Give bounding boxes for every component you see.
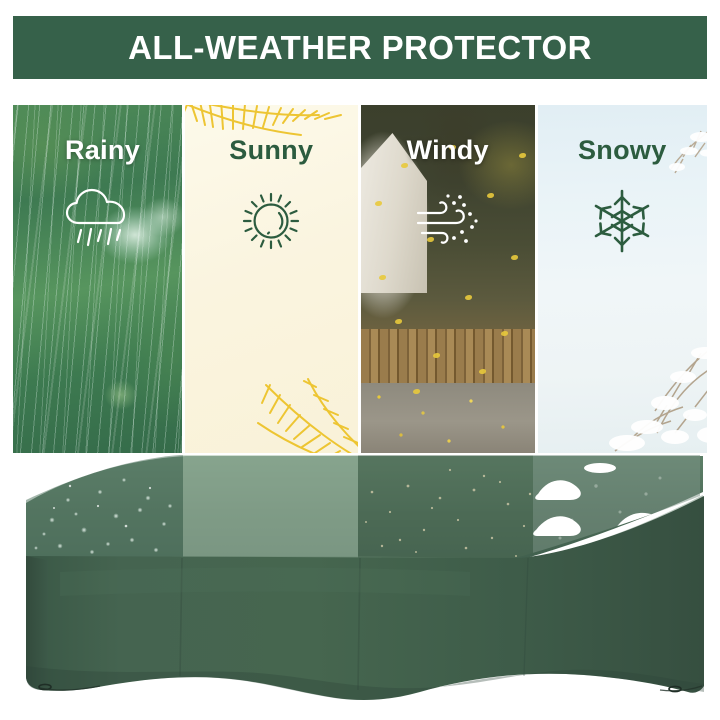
patio-furniture-cover xyxy=(0,0,720,720)
product-marketing-image: ALL-WEATHER PROTECTOR Rainy xyxy=(0,0,720,720)
sunny-zone-tint xyxy=(183,450,358,565)
debris-on-cover xyxy=(358,450,533,565)
water-droplets-on-cover xyxy=(26,450,183,565)
